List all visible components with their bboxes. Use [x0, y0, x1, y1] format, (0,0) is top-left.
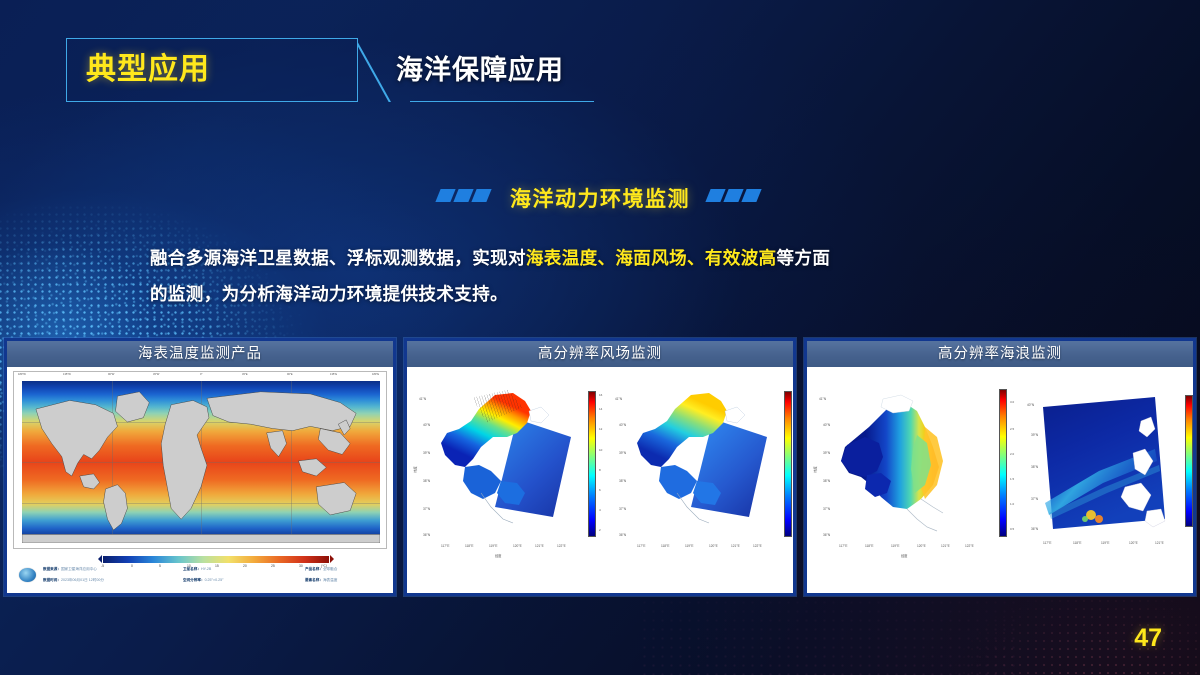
- body-paragraph: 融合多源海洋卫星数据、浮标观测数据，实现对海表温度、海面风场、有效波高等方面 的…: [150, 240, 1050, 312]
- body-line2: 的监测，为分析海洋动力环境提供技术支持。: [150, 284, 508, 304]
- panel-wave[interactable]: 高分辨率海浪监测 41°N 40°N 39°N 38°N 37°N 36°N 纬…: [804, 338, 1196, 596]
- slide-header: 典型应用 海洋保障应用: [66, 38, 596, 102]
- panel-sst-title: 海表温度监测产品: [7, 341, 393, 367]
- panel-wind-title: 高分辨率风场监测: [407, 341, 793, 367]
- panel-wave-body: 41°N 40°N 39°N 38°N 37°N 36°N 纬度 117°E 1…: [807, 367, 1193, 593]
- wind-field-right-plot: 41°N 40°N 39°N 38°N 37°N 36°N 117°E 118°…: [617, 381, 777, 561]
- wave-height-left-plot: 41°N 40°N 39°N 38°N 37°N 36°N 纬度 117°E 1…: [821, 381, 991, 561]
- section-title: 海洋动力环境监测: [510, 183, 690, 213]
- meta-label: 数据来源：: [43, 567, 61, 571]
- meta-value: 2023年06月01日 12时00分: [61, 578, 104, 582]
- sst-metadata-strip: 数据来源：国家卫星海洋应用中心 数据时间：2023年06月01日 12时00分 …: [15, 563, 385, 591]
- agency-emblem-icon: [19, 568, 36, 582]
- slide-root: 典型应用 海洋保障应用 海洋动力环境监测 融合多源海洋卫星数据、浮标观测数据，实…: [0, 0, 1200, 675]
- chevron-left-icon: [438, 189, 492, 207]
- wind-left-colorbar: 2 4 6 8 10 12 14 16: [588, 391, 596, 537]
- global-sst-map: 180°W 135°W 90°W 45°W 0° 45°E 90°E 135°E…: [13, 371, 387, 549]
- sst-colorbar: [103, 556, 329, 563]
- panel-wind-body: 41°N 40°N 39°N 38°N 37°N 36°N 纬度 117°E 1…: [407, 367, 793, 593]
- header-tag-label: 典型应用: [86, 38, 210, 102]
- meta-value: HY-2B: [201, 567, 211, 571]
- meta-label: 空间分辨率：: [183, 578, 205, 582]
- sst-map-canvas: [22, 381, 380, 543]
- meta-value: 国家卫星海洋应用中心: [61, 567, 97, 571]
- panel-sst-body: 180°W 135°W 90°W 45°W 0° 45°E 90°E 135°E…: [7, 367, 393, 593]
- panel-row: 海表温度监测产品: [4, 338, 1196, 596]
- panel-wind[interactable]: 高分辨率风场监测 41°N 40°N 39°N 38°N 37°N 36°N 纬…: [404, 338, 796, 596]
- wind-right-colorbar: 2 4 6 8 10 12 14 16: [784, 391, 792, 537]
- meta-value: 海表温度: [323, 578, 337, 582]
- panel-wave-title: 高分辨率海浪监测: [807, 341, 1193, 367]
- section-title-row: 海洋动力环境监测: [0, 183, 1200, 213]
- meta-value: 0.25°×0.25°: [205, 578, 224, 582]
- meta-label: 产品名称：: [305, 567, 323, 571]
- chevron-right-icon: [708, 189, 762, 207]
- page-title: 海洋保障应用: [396, 38, 564, 102]
- body-line1-highlight: 海表温度、海面风场、有效波高: [526, 248, 777, 268]
- body-line1-pre: 融合多源海洋卫星数据、浮标观测数据，实现对: [150, 248, 526, 268]
- wave-swath-right-plot: 40°N 39°N 38°N 37°N 36°N 117°E 118°E 119…: [1029, 391, 1179, 561]
- body-line1-post: 等方面: [777, 248, 831, 268]
- meta-value: 全球融合: [323, 567, 337, 571]
- meta-label: 要素名称：: [305, 578, 323, 582]
- wave-right-colorbar: 0.5 1.0 1.5 2.0 2.5 3.0: [1185, 395, 1193, 527]
- meta-label: 卫星名称：: [183, 567, 201, 571]
- panel-sst[interactable]: 海表温度监测产品: [4, 338, 396, 596]
- meta-label: 数据时间：: [43, 578, 61, 582]
- page-number: 47: [1134, 624, 1162, 653]
- wave-left-colorbar: 0.5 1.0 1.5 2.0 2.5 3.0: [999, 389, 1007, 537]
- wind-field-left-plot: 41°N 40°N 39°N 38°N 37°N 36°N 纬度 117°E 1…: [421, 381, 581, 561]
